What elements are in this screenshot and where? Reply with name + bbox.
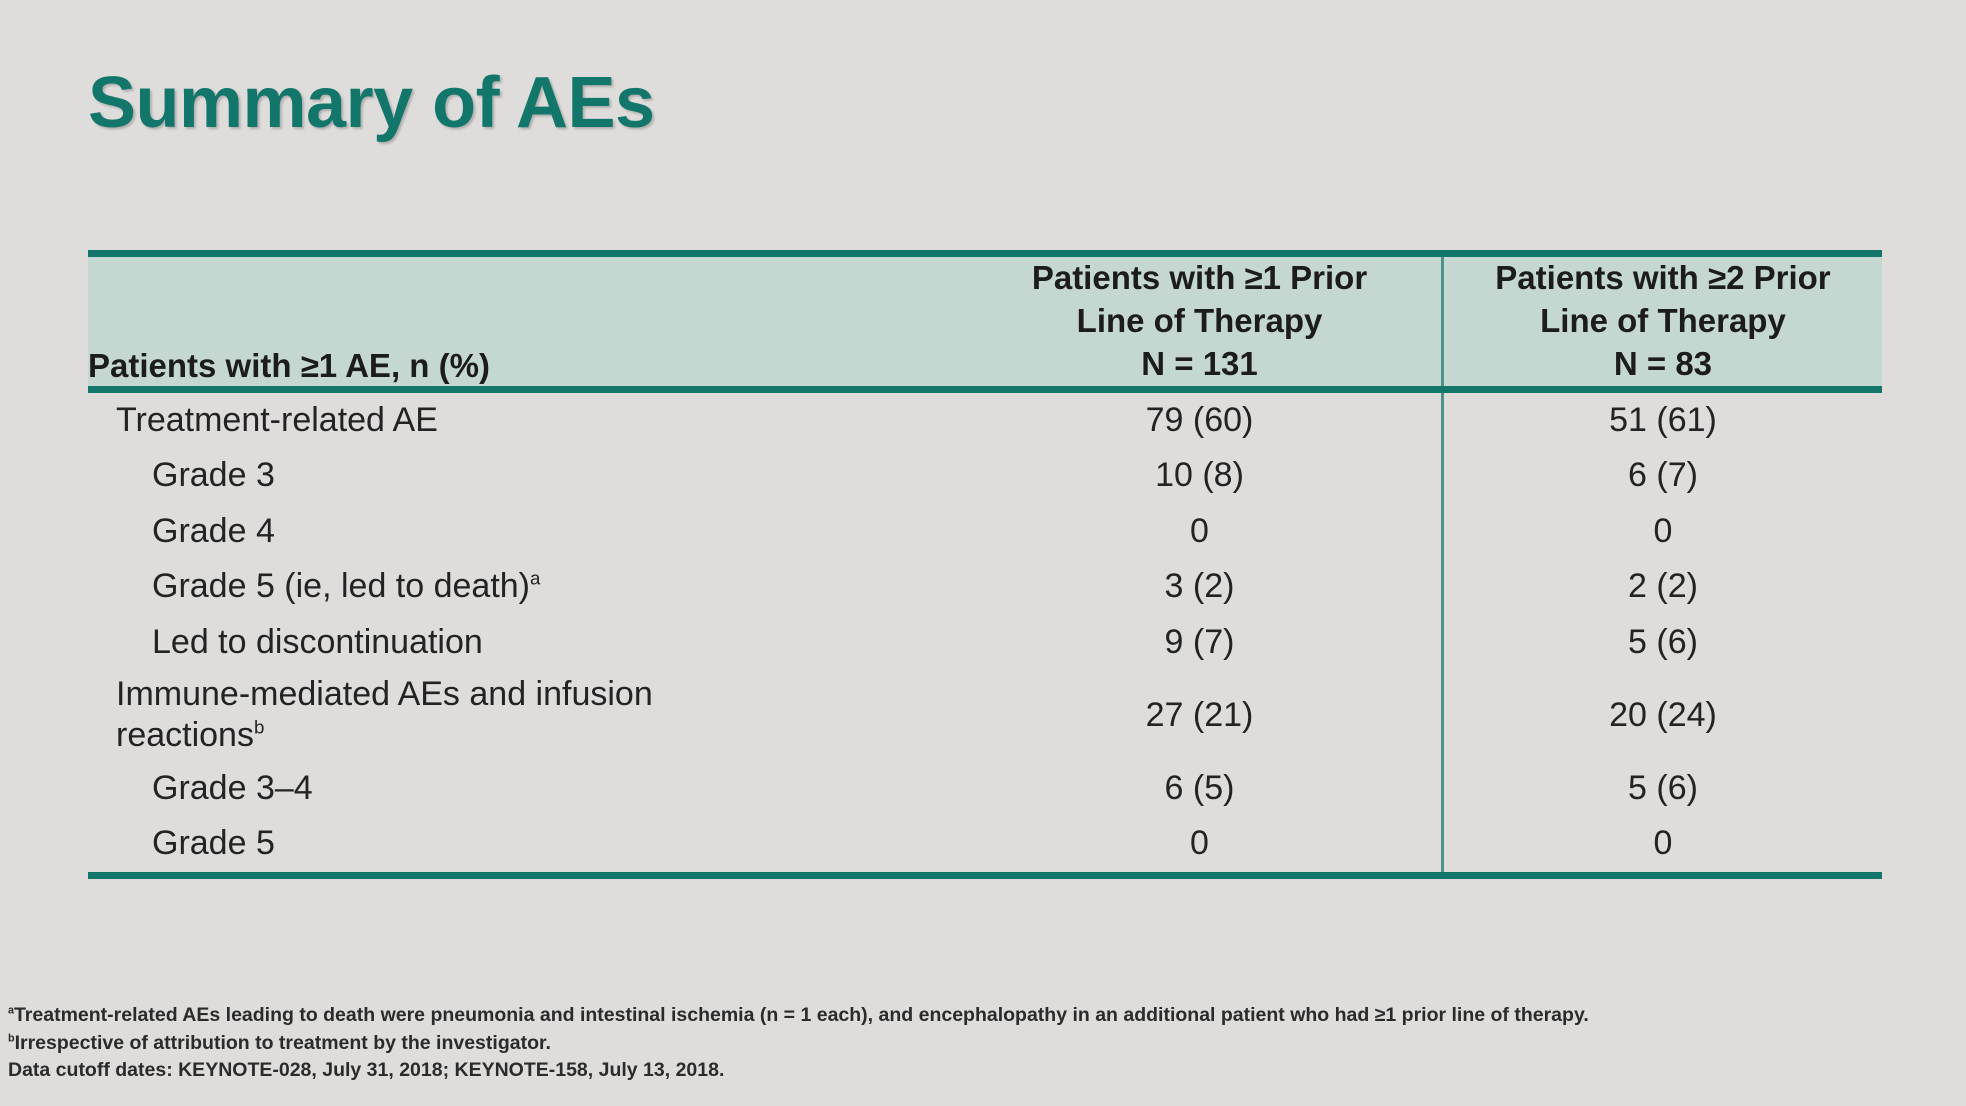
row-value-prior-line-1: 10 (8) <box>958 448 1442 503</box>
row-value-prior-line-1: 9 (7) <box>958 615 1442 670</box>
row-footnote-marker: a <box>530 568 540 589</box>
row-label-text: Led to discontinuation <box>152 623 483 661</box>
row-label-text: Grade 3–4 <box>152 769 313 807</box>
row-value-prior-line-1: 0 <box>958 504 1442 559</box>
footnote-b-text: Irrespective of attribution to treatment… <box>15 1032 551 1054</box>
row-value-prior-line-1: 0 <box>958 816 1442 875</box>
column-header-prior-line-2: Patients with ≥2 Prior Line of Therapy N… <box>1442 254 1882 390</box>
table-row: Immune-mediated AEs and infusion reactio… <box>88 670 1882 761</box>
row-footnote-marker: b <box>254 717 264 738</box>
row-value-prior-line-2: 0 <box>1442 816 1882 875</box>
footnote-b: bIrrespective of attribution to treatmen… <box>8 1030 1958 1058</box>
row-value-prior-line-2: 20 (24) <box>1442 670 1882 761</box>
row-value-prior-line-2: 6 (7) <box>1442 448 1882 503</box>
row-label-text: Treatment-related AE <box>116 401 438 439</box>
row-value-prior-line-1: 6 (5) <box>958 761 1442 816</box>
row-label: Grade 3–4 <box>88 761 958 816</box>
table-row: Grade 5 (ie, led to death)a3 (2)2 (2) <box>88 559 1882 614</box>
row-value-prior-line-2: 5 (6) <box>1442 615 1882 670</box>
column-header-1-n: N = 131 <box>958 343 1441 386</box>
table-row: Grade 400 <box>88 504 1882 559</box>
row-value-prior-line-2: 51 (61) <box>1442 389 1882 448</box>
ae-summary-table-container: Patients with ≥1 AE, n (%) Patients with… <box>88 250 1882 879</box>
row-label-text: Grade 4 <box>152 512 275 550</box>
row-label-text: Grade 5 (ie, led to death) <box>152 567 530 605</box>
row-value-prior-line-2: 2 (2) <box>1442 559 1882 614</box>
table-header: Patients with ≥1 AE, n (%) Patients with… <box>88 254 1882 390</box>
row-value-prior-line-2: 0 <box>1442 504 1882 559</box>
row-value-prior-line-1: 3 (2) <box>958 559 1442 614</box>
row-label-text: Grade 3 <box>152 456 275 494</box>
row-label: Immune-mediated AEs and infusion reactio… <box>88 670 958 761</box>
ae-summary-table: Patients with ≥1 AE, n (%) Patients with… <box>88 250 1882 879</box>
table-row: Grade 500 <box>88 816 1882 875</box>
footnote-a: aTreatment-related AEs leading to death … <box>8 1002 1958 1030</box>
row-label-text: Immune-mediated AEs and infusion reactio… <box>116 675 653 754</box>
row-label-text: Grade 5 <box>152 824 275 862</box>
table-row: Grade 3–46 (5)5 (6) <box>88 761 1882 816</box>
column-header-prior-line-1: Patients with ≥1 Prior Line of Therapy N… <box>958 254 1442 390</box>
column-header-label: Patients with ≥1 AE, n (%) <box>88 254 958 390</box>
row-label: Grade 4 <box>88 504 958 559</box>
row-label: Treatment-related AE <box>88 389 958 448</box>
column-header-2-n: N = 83 <box>1444 343 1882 386</box>
row-label: Grade 5 (ie, led to death)a <box>88 559 958 614</box>
table-header-row: Patients with ≥1 AE, n (%) Patients with… <box>88 254 1882 390</box>
column-header-label-text: Patients with ≥1 AE, n (%) <box>88 347 490 384</box>
table-body: Treatment-related AE79 (60)51 (61)Grade … <box>88 389 1882 875</box>
row-label: Grade 3 <box>88 448 958 503</box>
column-header-1-line1: Patients with ≥1 Prior <box>958 257 1441 300</box>
page-title: Summary of AEs <box>88 62 655 144</box>
column-header-2-line2: Line of Therapy <box>1444 300 1882 343</box>
row-value-prior-line-1: 79 (60) <box>958 389 1442 448</box>
row-value-prior-line-1: 27 (21) <box>958 670 1442 761</box>
row-label: Led to discontinuation <box>88 615 958 670</box>
data-cutoff-note: Data cutoff dates: KEYNOTE-028, July 31,… <box>8 1057 1958 1085</box>
table-row: Treatment-related AE79 (60)51 (61) <box>88 389 1882 448</box>
row-value-prior-line-2: 5 (6) <box>1442 761 1882 816</box>
table-row: Led to discontinuation9 (7)5 (6) <box>88 615 1882 670</box>
table-row: Grade 310 (8)6 (7) <box>88 448 1882 503</box>
slide-canvas: Summary of AEs Patients with ≥1 AE, n (%… <box>0 0 1966 1106</box>
footnotes: aTreatment-related AEs leading to death … <box>8 1002 1958 1085</box>
row-label: Grade 5 <box>88 816 958 875</box>
footnote-a-text: Treatment-related AEs leading to death w… <box>14 1004 1589 1026</box>
column-header-1-line2: Line of Therapy <box>958 300 1441 343</box>
column-header-2-line1: Patients with ≥2 Prior <box>1444 257 1882 300</box>
